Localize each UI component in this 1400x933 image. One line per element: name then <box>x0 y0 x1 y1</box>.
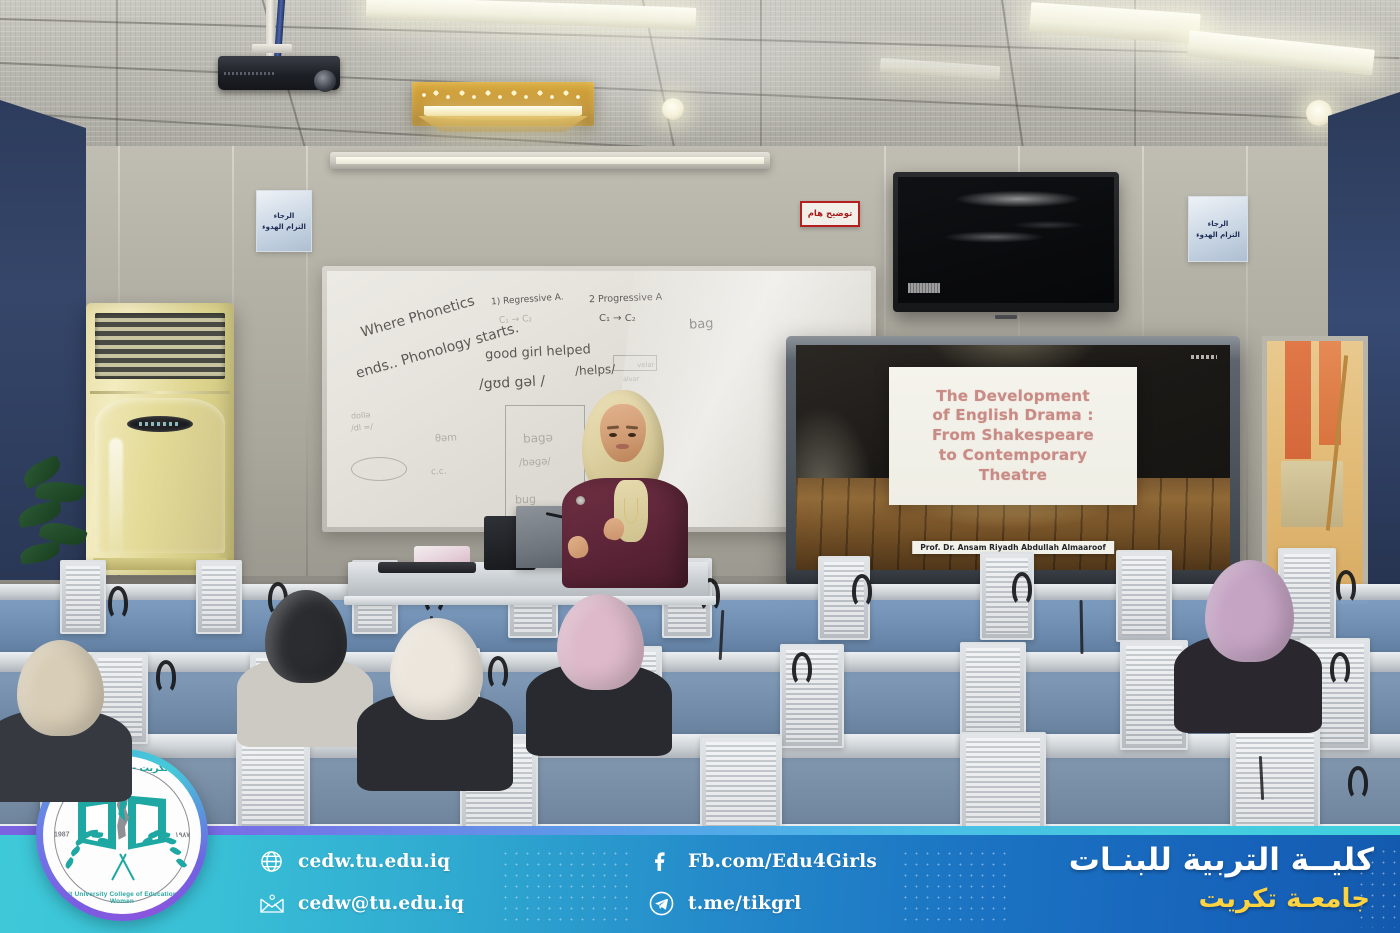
website-text: cedw.tu.edu.iq <box>298 851 450 872</box>
lecturer-badge <box>576 496 585 505</box>
banner-dot-pattern <box>500 848 632 926</box>
student-hijab <box>265 590 346 683</box>
important-notice-text: توضيح هام <box>808 209 853 219</box>
envelope-icon <box>258 890 285 917</box>
projector-vent <box>224 72 276 75</box>
student <box>540 594 658 744</box>
whiteboard-note: good girl helped <box>485 342 591 363</box>
ac-seam <box>90 391 230 394</box>
headset <box>156 660 176 694</box>
whiteboard-note: Where Phonetics <box>359 293 476 341</box>
ac-front-panel <box>95 398 225 553</box>
laurel-right <box>132 824 184 868</box>
student-hijab <box>1205 560 1294 662</box>
whiteboard-note: c.c. <box>431 467 447 478</box>
ceiling-projector <box>218 48 340 90</box>
divider-slats <box>202 566 236 628</box>
whiteboard-note: dollə <box>351 410 371 420</box>
headset <box>108 586 128 620</box>
college-name-arabic: كليــة التربية للبنـات <box>1069 842 1374 878</box>
student <box>372 618 498 778</box>
student-hijab <box>557 594 644 690</box>
whiteboard-note: /helps/ <box>575 362 616 378</box>
divider-slats <box>966 648 1020 744</box>
headset <box>1348 766 1368 800</box>
desk-divider <box>60 560 106 634</box>
divider-slats <box>66 566 100 628</box>
whiteboard-circle <box>351 457 407 481</box>
facebook-icon <box>648 848 675 875</box>
student-hijab <box>17 640 104 736</box>
lecturer-mouth <box>616 444 629 449</box>
student <box>250 590 360 735</box>
laurel-leaf <box>141 837 153 846</box>
wall-mounted-tv <box>893 172 1119 312</box>
desk-divider <box>780 644 844 748</box>
banner-dot-pattern <box>900 848 1010 926</box>
telegram-icon <box>648 890 675 917</box>
room-background: الرجاء التزام الهدوء الرجاء التزام الهدو… <box>0 0 1400 933</box>
desk-divider <box>1116 550 1172 642</box>
laurel-leaf <box>97 837 109 846</box>
tv-sticker <box>908 283 940 293</box>
tv-screen <box>898 177 1114 303</box>
quiet-sign-line2: التزام الهدوء <box>262 223 306 231</box>
whiteboard-note: bag <box>689 316 714 332</box>
logo-english-text: Tikrit University College of Education f… <box>43 891 201 905</box>
quiet-sign-line2: التزام الهدوء <box>1196 231 1240 239</box>
presentation-display[interactable]: The Development of English Drama : From … <box>786 336 1240 586</box>
headset <box>852 574 872 608</box>
desk-divider <box>196 560 242 634</box>
email-link[interactable]: cedw@tu.edu.iq <box>258 890 464 917</box>
ac-display <box>127 416 193 432</box>
footer-banner: cedw.tu.edu.iq cedw@tu.edu.iq Fb.com/Edu… <box>0 826 1400 933</box>
whiteboard-note: 2 Progressive A <box>589 292 663 306</box>
ceiling-dome-light <box>662 98 684 120</box>
quiet-sign-left: الرجاء التزام الهدوء <box>256 190 312 252</box>
university-name-arabic: جامعـة تكريت <box>1199 884 1370 914</box>
telegram-text: t.me/tikgrl <box>688 893 801 914</box>
quiet-sign-line1: الرجاء <box>274 212 295 220</box>
important-notice-sign: توضيح هام <box>800 201 860 227</box>
laurel-left <box>60 824 112 868</box>
quiet-sign-line1: الرجاء <box>1208 220 1229 228</box>
decorative-ceiling-light <box>412 82 594 126</box>
whiteboard-note: alvər <box>623 375 640 384</box>
telegram-link[interactable]: t.me/tikgrl <box>648 890 801 917</box>
facebook-text: Fb.com/Edu4Girls <box>688 851 877 872</box>
teacher-desk-edge <box>344 596 716 605</box>
projector-arm <box>252 44 292 53</box>
logo-emblem <box>74 792 170 866</box>
student <box>0 640 118 790</box>
slide-title-card: The Development of English Drama : From … <box>889 367 1137 505</box>
ac-vent-grill <box>95 313 225 379</box>
classroom-photo: الرجاء التزام الهدوء الرجاء التزام الهدو… <box>0 0 1400 933</box>
headset <box>792 652 812 686</box>
student-hijab <box>390 618 483 720</box>
wall-fluorescent-light <box>330 152 770 169</box>
chandelier-skirt <box>418 116 588 132</box>
lecturer-necklace <box>624 498 638 524</box>
banner-top-gradient-strip <box>0 826 1400 835</box>
laurel-leaf <box>170 845 182 857</box>
whiteboard-note: C₁ → C₂ <box>499 314 533 326</box>
chandelier-ornament <box>418 87 588 104</box>
ac-highlight <box>109 438 123 558</box>
projector-body <box>218 56 340 90</box>
whiteboard-note: C₁ → C₂ <box>599 313 636 324</box>
whiteboard-note: /gʊd gəl / <box>479 373 546 392</box>
whiteboard-note: /dl =/ <box>351 422 374 433</box>
website-link[interactable]: cedw.tu.edu.iq <box>258 848 450 875</box>
laurel-leaf <box>64 857 76 869</box>
display-screen: The Development of English Drama : From … <box>796 345 1230 570</box>
whiteboard-box <box>613 355 657 371</box>
whiteboard-note: θəm <box>435 432 458 444</box>
globe-icon <box>258 848 285 875</box>
ceiling <box>0 0 1400 152</box>
student <box>1188 560 1308 720</box>
email-text: cedw@tu.edu.iq <box>298 893 464 914</box>
headset <box>1012 572 1032 606</box>
headset <box>1336 570 1356 604</box>
quiet-sign-right: الرجاء التزام الهدوء <box>1188 196 1248 262</box>
tv-brand-badge <box>995 315 1017 319</box>
doorway-wall-panel <box>1285 341 1311 459</box>
headset <box>1330 652 1350 686</box>
divider-slats <box>1122 556 1166 636</box>
desk-folder <box>378 562 476 573</box>
facebook-link[interactable]: Fb.com/Edu4Girls <box>648 848 877 875</box>
laurel-leaf <box>69 845 81 857</box>
display-status-leds <box>1191 355 1217 359</box>
slide-title: The Development of English Drama : From … <box>932 387 1094 486</box>
projector-lens <box>314 70 336 92</box>
whiteboard-note: 1) Regressive A. <box>491 292 564 307</box>
lecturer <box>560 390 690 580</box>
